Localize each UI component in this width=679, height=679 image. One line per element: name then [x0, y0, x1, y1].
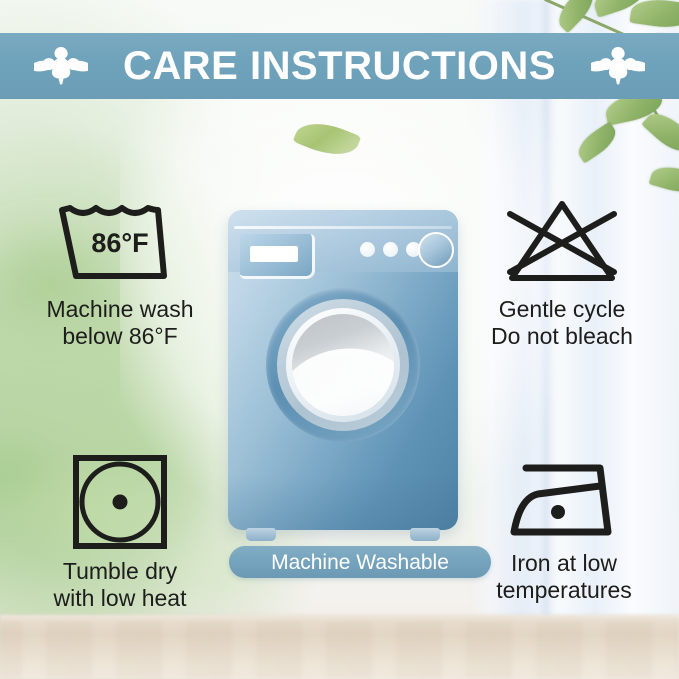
machine-washable-badge: Machine Washable — [229, 546, 491, 578]
iron-one-dot-icon — [496, 450, 632, 542]
machine-foot-right — [410, 528, 440, 541]
machine-door-ring-inner — [286, 308, 400, 422]
wash-temperature-value: 86°F — [91, 228, 148, 258]
care-symbol-caption: Tumble dry with low heat — [54, 558, 187, 612]
floating-leaf-icon — [296, 124, 358, 154]
care-symbol-tumble-dry: Tumble dry with low heat — [22, 450, 218, 612]
care-symbol-caption: Gentle cycle Do not bleach — [491, 296, 633, 350]
detergent-drawer — [240, 234, 315, 279]
header-banner: CARE INSTRUCTIONS — [0, 33, 679, 99]
wooden-table-grain — [0, 621, 679, 679]
care-symbol-iron-low: Iron at low temperatures — [461, 450, 667, 604]
machine-button-1 — [360, 242, 375, 257]
detergent-drawer-slot — [250, 246, 298, 262]
care-symbol-caption: Machine wash below 86°F — [46, 296, 193, 350]
machine-foot-left — [246, 528, 276, 541]
fleur-de-lis-left-icon — [34, 43, 88, 89]
wash-tub-icon: 86°F — [52, 196, 188, 288]
foliage-top-right — [501, 0, 679, 212]
fleur-de-lis-right-icon — [591, 43, 645, 89]
machine-program-dial — [418, 232, 454, 268]
machine-door-ring-outer — [277, 299, 409, 431]
care-symbol-do-not-bleach: Gentle cycle Do not bleach — [457, 196, 667, 350]
care-symbol-caption: Iron at low temperatures — [496, 550, 632, 604]
triangle-crossed-out-icon — [494, 196, 630, 288]
washing-machine-illustration — [228, 210, 458, 530]
machine-door-glass — [292, 314, 394, 416]
badge-label: Machine Washable — [271, 552, 449, 573]
machine-panel-divider — [234, 226, 452, 229]
care-instructions-graphic: CARE INSTRUCTIONS 86°F Machine wash belo… — [0, 0, 679, 679]
tumble-dry-one-dot-icon — [68, 450, 172, 550]
machine-button-2 — [383, 242, 398, 257]
care-symbol-machine-wash: 86°F Machine wash below 86°F — [20, 196, 220, 350]
machine-body-shading — [228, 474, 458, 530]
machine-door — [266, 288, 420, 442]
page-title: CARE INSTRUCTIONS — [123, 46, 556, 86]
